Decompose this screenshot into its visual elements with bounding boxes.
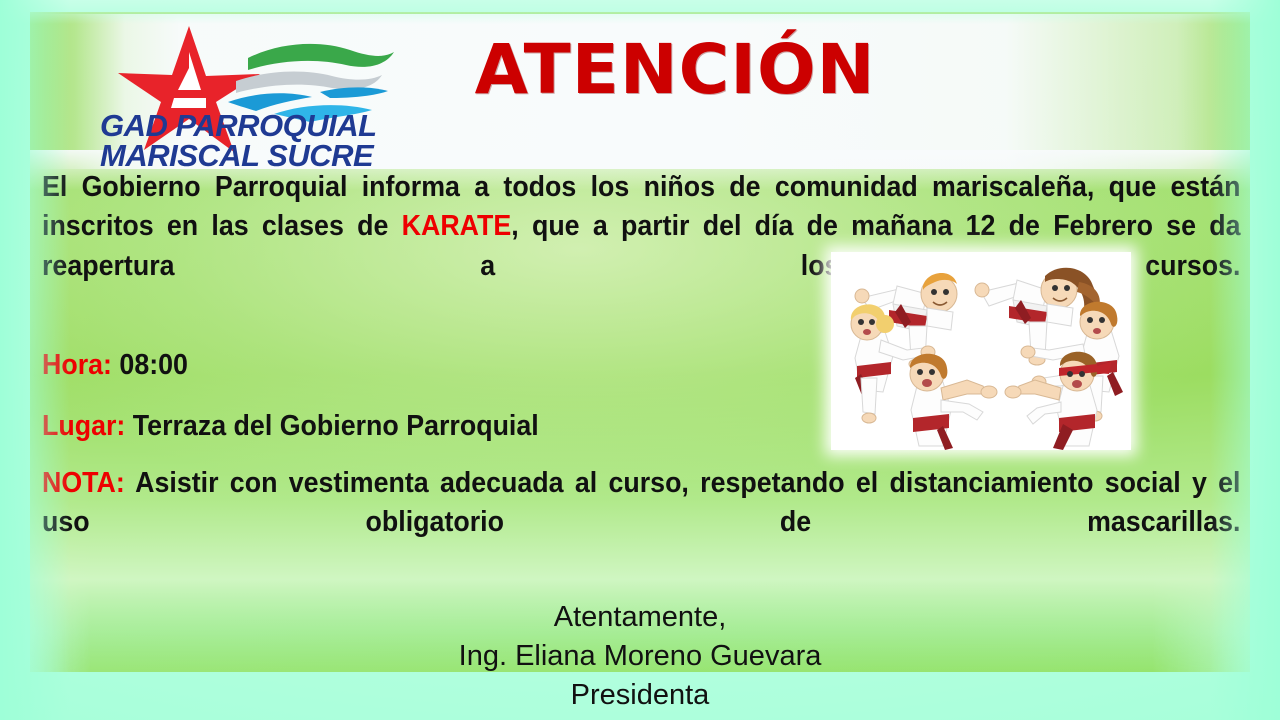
signature-line-3: Presidenta bbox=[0, 676, 1280, 715]
lugar-value: Terraza del Gobierno Parroquial bbox=[133, 410, 539, 442]
signature-block: Atentamente, Ing. Eliana Moreno Guevara … bbox=[0, 598, 1280, 715]
signature-line-1: Atentamente, bbox=[0, 598, 1280, 637]
poster-canvas: GAD PARROQUIAL MARISCAL SUCRE ATENCIÓN E… bbox=[0, 0, 1280, 720]
logo-wordmark: GAD PARROQUIAL MARISCAL SUCRE bbox=[100, 108, 377, 168]
nota-block: NOTA: Asistir con vestimenta adecuada al… bbox=[42, 464, 1240, 582]
nota-text: Asistir con vestimenta adecuada al curso… bbox=[42, 467, 1241, 538]
karate-keyword: KARATE bbox=[402, 210, 512, 242]
nota-paragraph: NOTA: Asistir con vestimenta adecuada al… bbox=[42, 464, 1241, 582]
lugar-label: Lugar: bbox=[42, 410, 125, 442]
signature-line-2: Ing. Eliana Moreno Guevara bbox=[0, 637, 1280, 676]
nota-label: NOTA: bbox=[42, 467, 125, 499]
hora-value: 08:00 bbox=[119, 349, 188, 381]
svg-text:MARISCAL SUCRE: MARISCAL SUCRE bbox=[100, 138, 375, 168]
karate-kids-illustration bbox=[831, 252, 1131, 450]
page-title: ATENCIÓN bbox=[455, 36, 895, 105]
hora-label: Hora: bbox=[42, 349, 112, 381]
gad-parroquial-logo: GAD PARROQUIAL MARISCAL SUCRE bbox=[88, 18, 398, 168]
